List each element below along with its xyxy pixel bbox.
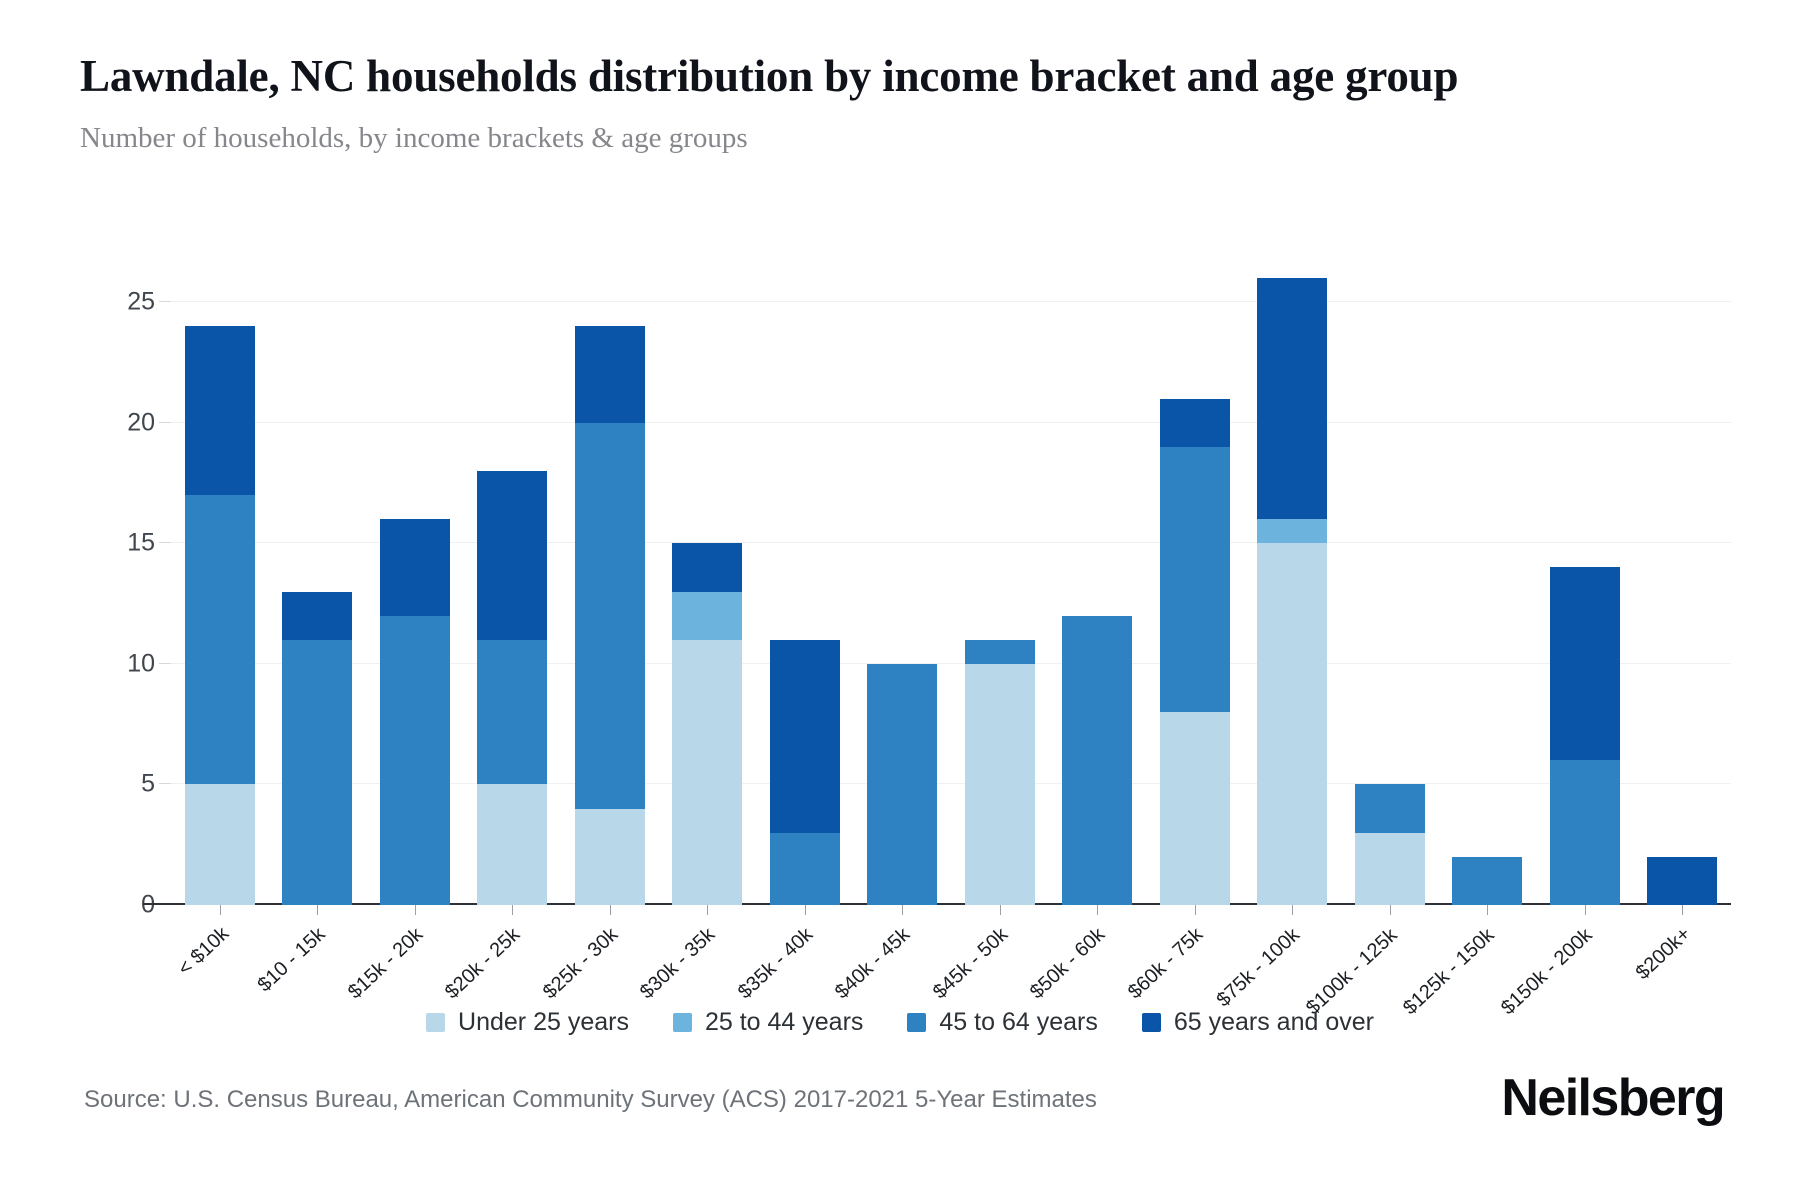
bar-segment[interactable] xyxy=(672,592,742,640)
x-tick-mark xyxy=(1097,905,1098,915)
x-tick-label: $150k - 200k xyxy=(1497,924,1597,1020)
bar-segment[interactable] xyxy=(380,616,450,905)
y-tick-label: 15 xyxy=(99,529,155,558)
stacked-bar[interactable] xyxy=(380,519,450,905)
x-tick-label: $50k - 60k xyxy=(1026,924,1110,1005)
bar-segment[interactable] xyxy=(1550,760,1620,905)
bar-segment[interactable] xyxy=(477,471,547,640)
plot-area: 0510152025 < $10k$10 - 15k$15k - 20k$20k… xyxy=(171,278,1731,905)
x-tick-mark xyxy=(610,905,611,915)
bar-segment[interactable] xyxy=(1160,447,1230,712)
y-tick-mark xyxy=(159,422,171,423)
stacked-bar[interactable] xyxy=(1647,857,1717,905)
bar-segment[interactable] xyxy=(770,640,840,833)
legend-item[interactable]: 45 to 64 years xyxy=(907,1008,1097,1037)
x-tick-mark xyxy=(220,905,221,915)
chart-legend: Under 25 years25 to 44 years45 to 64 yea… xyxy=(0,1008,1800,1037)
bar-segment[interactable] xyxy=(1160,399,1230,447)
legend-swatch-icon xyxy=(1142,1013,1161,1032)
legend-swatch-icon xyxy=(426,1013,445,1032)
bar-slot[interactable]: $200k+ xyxy=(1634,278,1732,905)
x-tick-label: $125k - 150k xyxy=(1399,924,1499,1020)
x-tick-label: $30k - 35k xyxy=(636,924,720,1005)
bar-segment[interactable] xyxy=(1257,519,1327,543)
x-tick-mark xyxy=(1292,905,1293,915)
x-tick-mark xyxy=(1000,905,1001,915)
x-tick-label: $10 - 15k xyxy=(254,923,331,997)
legend-item[interactable]: 65 years and over xyxy=(1142,1008,1374,1037)
x-tick-label: $35k - 40k xyxy=(734,924,818,1005)
bar-slot[interactable]: $40k - 45k xyxy=(854,278,952,905)
x-tick-label: $20k - 25k xyxy=(441,924,525,1005)
y-tick-mark xyxy=(159,783,171,784)
bar-slot[interactable]: $35k - 40k xyxy=(756,278,854,905)
y-tick-mark xyxy=(159,663,171,664)
bar-slot[interactable]: $75k - 100k xyxy=(1244,278,1342,905)
bar-segment[interactable] xyxy=(1550,567,1620,760)
stacked-bar[interactable] xyxy=(1550,567,1620,905)
bar-segment[interactable] xyxy=(185,784,255,905)
bar-segment[interactable] xyxy=(672,640,742,905)
x-tick-label: $25k - 30k xyxy=(539,924,623,1005)
legend-swatch-icon xyxy=(673,1013,692,1032)
stacked-bar[interactable] xyxy=(1062,616,1132,905)
legend-item[interactable]: 25 to 44 years xyxy=(673,1008,863,1037)
bar-slot[interactable]: $15k - 20k xyxy=(366,278,464,905)
bar-slot[interactable]: $150k - 200k xyxy=(1536,278,1634,905)
x-tick-label: < $10k xyxy=(174,923,234,981)
x-tick-mark xyxy=(317,905,318,915)
stacked-bar[interactable] xyxy=(672,543,742,905)
bar-segment[interactable] xyxy=(770,833,840,905)
bar-segment[interactable] xyxy=(672,543,742,591)
bar-slot[interactable]: $100k - 125k xyxy=(1341,278,1439,905)
bar-group: < $10k$10 - 15k$15k - 20k$20k - 25k$25k … xyxy=(171,278,1731,905)
bar-segment[interactable] xyxy=(1355,784,1425,832)
chart-page: Lawndale, NC households distribution by … xyxy=(0,0,1800,1200)
bar-segment[interactable] xyxy=(282,592,352,640)
bar-slot[interactable]: $60k - 75k xyxy=(1146,278,1244,905)
bar-segment[interactable] xyxy=(1452,857,1522,905)
stacked-bar[interactable] xyxy=(477,471,547,905)
bar-segment[interactable] xyxy=(575,809,645,905)
bar-segment[interactable] xyxy=(185,495,255,784)
bar-segment[interactable] xyxy=(575,423,645,809)
bar-slot[interactable]: $45k - 50k xyxy=(951,278,1049,905)
x-tick-mark xyxy=(1390,905,1391,915)
x-tick-mark xyxy=(512,905,513,915)
x-tick-mark xyxy=(1195,905,1196,915)
x-tick-label: $40k - 45k xyxy=(831,924,915,1005)
bar-segment[interactable] xyxy=(477,640,547,785)
legend-swatch-icon xyxy=(907,1013,926,1032)
x-tick-mark xyxy=(1487,905,1488,915)
y-tick-mark xyxy=(159,542,171,543)
bar-segment[interactable] xyxy=(1160,712,1230,905)
x-tick-mark xyxy=(1585,905,1586,915)
x-tick-label: $200k+ xyxy=(1632,923,1696,985)
bar-segment[interactable] xyxy=(380,519,450,615)
y-tick-label: 10 xyxy=(99,649,155,678)
y-tick-label: 25 xyxy=(99,288,155,317)
stacked-bar[interactable] xyxy=(185,326,255,905)
stacked-bar[interactable] xyxy=(1452,857,1522,905)
bar-slot[interactable]: $25k - 30k xyxy=(561,278,659,905)
x-tick-mark xyxy=(805,905,806,915)
x-tick-mark xyxy=(415,905,416,915)
x-tick-label: $75k - 100k xyxy=(1213,924,1305,1012)
x-tick-label: $15k - 20k xyxy=(344,924,428,1005)
stacked-bar[interactable] xyxy=(965,640,1035,905)
bar-segment[interactable] xyxy=(867,664,937,905)
bar-segment[interactable] xyxy=(1062,616,1132,905)
bar-segment[interactable] xyxy=(282,640,352,905)
bar-segment[interactable] xyxy=(1647,857,1717,905)
stacked-bar[interactable] xyxy=(1355,784,1425,905)
bar-slot[interactable]: $30k - 35k xyxy=(659,278,757,905)
bar-slot[interactable]: $50k - 60k xyxy=(1049,278,1147,905)
bar-segment[interactable] xyxy=(965,664,1035,905)
legend-label: Under 25 years xyxy=(458,1008,629,1037)
legend-item[interactable]: Under 25 years xyxy=(426,1008,629,1037)
stacked-bar[interactable] xyxy=(770,640,840,905)
chart-subtitle: Number of households, by income brackets… xyxy=(80,120,1640,158)
x-tick-label: $45k - 50k xyxy=(929,924,1013,1005)
bar-slot[interactable]: $20k - 25k xyxy=(464,278,562,905)
bar-segment[interactable] xyxy=(1257,278,1327,519)
y-tick-label: 5 xyxy=(99,770,155,799)
stacked-bar[interactable] xyxy=(282,592,352,905)
x-tick-mark xyxy=(707,905,708,915)
source-note: Source: U.S. Census Bureau, American Com… xyxy=(84,1086,1097,1114)
chart-header: Lawndale, NC households distribution by … xyxy=(80,48,1640,157)
bar-segment[interactable] xyxy=(477,784,547,905)
y-tick-mark xyxy=(159,301,171,302)
x-tick-mark xyxy=(1682,905,1683,915)
stacked-bar[interactable] xyxy=(1257,278,1327,905)
bar-segment[interactable] xyxy=(575,326,645,422)
page-title: Lawndale, NC households distribution by … xyxy=(80,48,1620,106)
bar-slot[interactable]: $125k - 150k xyxy=(1439,278,1537,905)
brand-logo: Neilsberg xyxy=(1501,1068,1724,1128)
legend-label: 65 years and over xyxy=(1174,1008,1374,1037)
bar-segment[interactable] xyxy=(965,640,1035,664)
bar-slot[interactable]: < $10k xyxy=(171,278,269,905)
bar-segment[interactable] xyxy=(185,326,255,495)
stacked-bar[interactable] xyxy=(867,664,937,905)
bar-segment[interactable] xyxy=(1355,833,1425,905)
y-tick-label: 0 xyxy=(99,891,155,920)
legend-label: 45 to 64 years xyxy=(939,1008,1097,1037)
x-tick-label: $60k - 75k xyxy=(1124,924,1208,1005)
y-tick-label: 20 xyxy=(99,408,155,437)
bar-slot[interactable]: $10 - 15k xyxy=(269,278,367,905)
stacked-bar[interactable] xyxy=(1160,399,1230,905)
legend-label: 25 to 44 years xyxy=(705,1008,863,1037)
stacked-bar[interactable] xyxy=(575,326,645,905)
bar-segment[interactable] xyxy=(1257,543,1327,905)
x-tick-mark xyxy=(902,905,903,915)
x-tick-label: $100k - 125k xyxy=(1302,924,1402,1020)
